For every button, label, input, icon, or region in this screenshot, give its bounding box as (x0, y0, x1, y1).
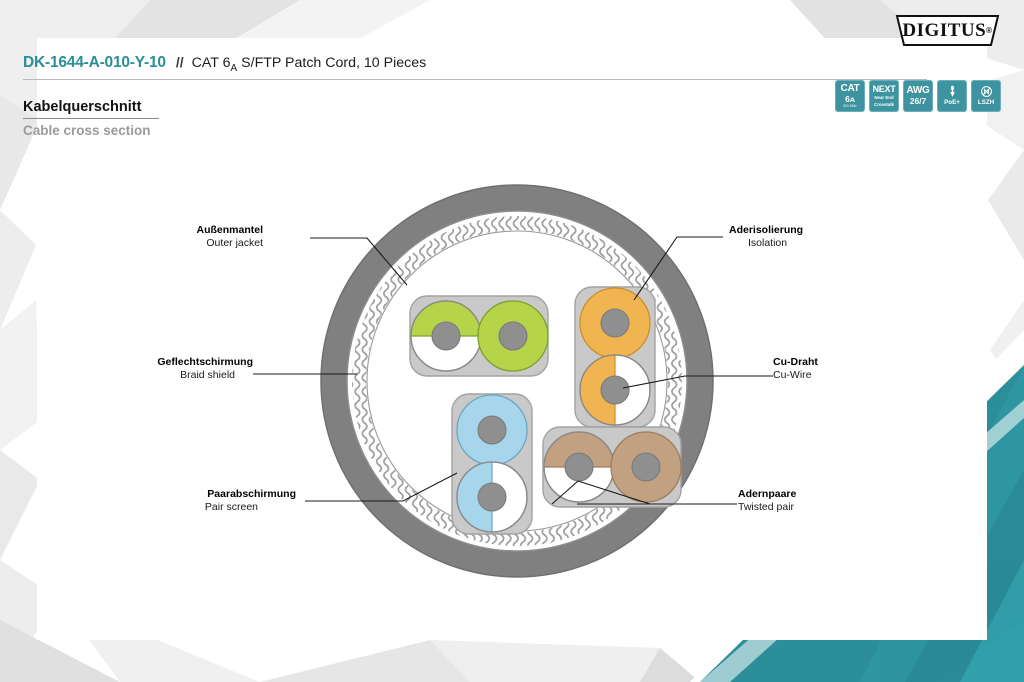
pair-blue-core-2 (478, 483, 506, 511)
badge-awg-line2: 26/7 (910, 97, 927, 106)
callout-pair-screen: Paarabschirmung Pair screen (100, 488, 296, 515)
callout-cu-wire-en: Cu-Wire (773, 369, 933, 382)
callout-braid-shield-en: Braid shield (60, 369, 253, 382)
badge-poe: PoE+ (937, 80, 967, 112)
badge-cat6a-line3: 500 MHz (843, 105, 856, 108)
certification-badges: CAT 6ᴀ 500 MHz NEXT Near End Crosstalk A… (835, 80, 1001, 112)
title-separator: // (176, 54, 184, 70)
callout-twisted-pair-en: Twisted pair (738, 501, 908, 514)
article-number: DK-1644-A-010-Y-10 (23, 54, 166, 72)
badge-next: NEXT Near End Crosstalk (869, 80, 899, 112)
badge-poe-caption: PoE+ (944, 100, 960, 106)
callout-braid-shield: Geflechtschirmung Braid shield (60, 356, 253, 383)
pair-orange (575, 287, 655, 427)
badge-cat6a-line2: 6ᴀ (845, 95, 855, 104)
power-plug-icon (946, 85, 959, 98)
pair-blue-wire-solid (457, 395, 527, 465)
callout-outer-jacket: Außenmantel Outer jacket (68, 224, 263, 251)
description-pre: CAT 6 (192, 55, 231, 71)
badge-next-line1: NEXT (873, 85, 896, 94)
pair-green (410, 296, 548, 376)
callout-pair-screen-en: Pair screen (100, 501, 296, 514)
registered-mark: ® (986, 26, 992, 35)
callout-twisted-pair: Adernpaare Twisted pair (738, 488, 908, 515)
pair-brown-wire-solid (611, 432, 681, 502)
badge-lszh-caption: LSZH (978, 100, 994, 106)
pair-green-core-2 (499, 322, 527, 350)
pair-blue (452, 394, 532, 534)
badge-awg: AWG 26/7 (903, 80, 933, 112)
pair-blue-wire-striped (457, 462, 527, 532)
pair-green-core-1 (432, 322, 460, 350)
product-description: CAT 6A S/FTP Patch Cord, 10 Pieces (192, 55, 427, 74)
callout-braid-shield-de: Geflechtschirmung (60, 356, 253, 369)
section-heading: Kabelquerschnitt Cable cross section (23, 98, 159, 138)
pair-brown (543, 427, 681, 507)
callout-isolation-de: Aderisolierung (729, 224, 939, 237)
title-row: DK-1644-A-010-Y-10 // CAT 6A S/FTP Patch… (23, 54, 927, 80)
pair-orange-core-2 (601, 376, 629, 404)
callout-isolation-en: Isolation (729, 237, 939, 250)
section-title-de: Kabelquerschnitt (23, 99, 159, 119)
pair-orange-wire-striped (580, 355, 650, 425)
cable-cross-section-diagram (37, 38, 987, 640)
pair-brown-wire-striped (544, 432, 614, 502)
digitus-logo: DIGITUS® (894, 13, 1001, 48)
badge-cat6a: CAT 6ᴀ 500 MHz (835, 80, 865, 112)
logo-wordmark: DIGITUS (902, 20, 986, 42)
section-title-en: Cable cross section (23, 123, 159, 138)
pair-brown-core-2 (632, 453, 660, 481)
callout-isolation: Aderisolierung Isolation (729, 224, 939, 251)
pair-blue-core-1 (478, 416, 506, 444)
callout-cu-wire: Cu-Draht Cu-Wire (773, 356, 933, 383)
pair-green-wire-solid (478, 301, 548, 371)
callout-twisted-pair-de: Adernpaare (738, 488, 908, 501)
no-halogen-icon (980, 85, 993, 98)
pair-green-wire-striped (411, 301, 481, 371)
badge-next-line2: Near End (874, 95, 893, 101)
pair-orange-core-1 (601, 309, 629, 337)
pair-orange-wire-solid (580, 288, 650, 358)
callout-outer-jacket-en: Outer jacket (68, 237, 263, 250)
badge-lszh: LSZH (971, 80, 1001, 112)
badge-awg-line1: AWG (907, 86, 930, 96)
callout-pair-screen-de: Paarabschirmung (100, 488, 296, 501)
badge-next-line3: Crosstalk (874, 102, 894, 108)
pair-brown-core-1 (565, 453, 593, 481)
badge-cat6a-line1: CAT (841, 84, 860, 94)
callout-cu-wire-de: Cu-Draht (773, 356, 933, 369)
description-post: S/FTP Patch Cord, 10 Pieces (237, 55, 426, 71)
callout-outer-jacket-de: Außenmantel (68, 224, 263, 237)
